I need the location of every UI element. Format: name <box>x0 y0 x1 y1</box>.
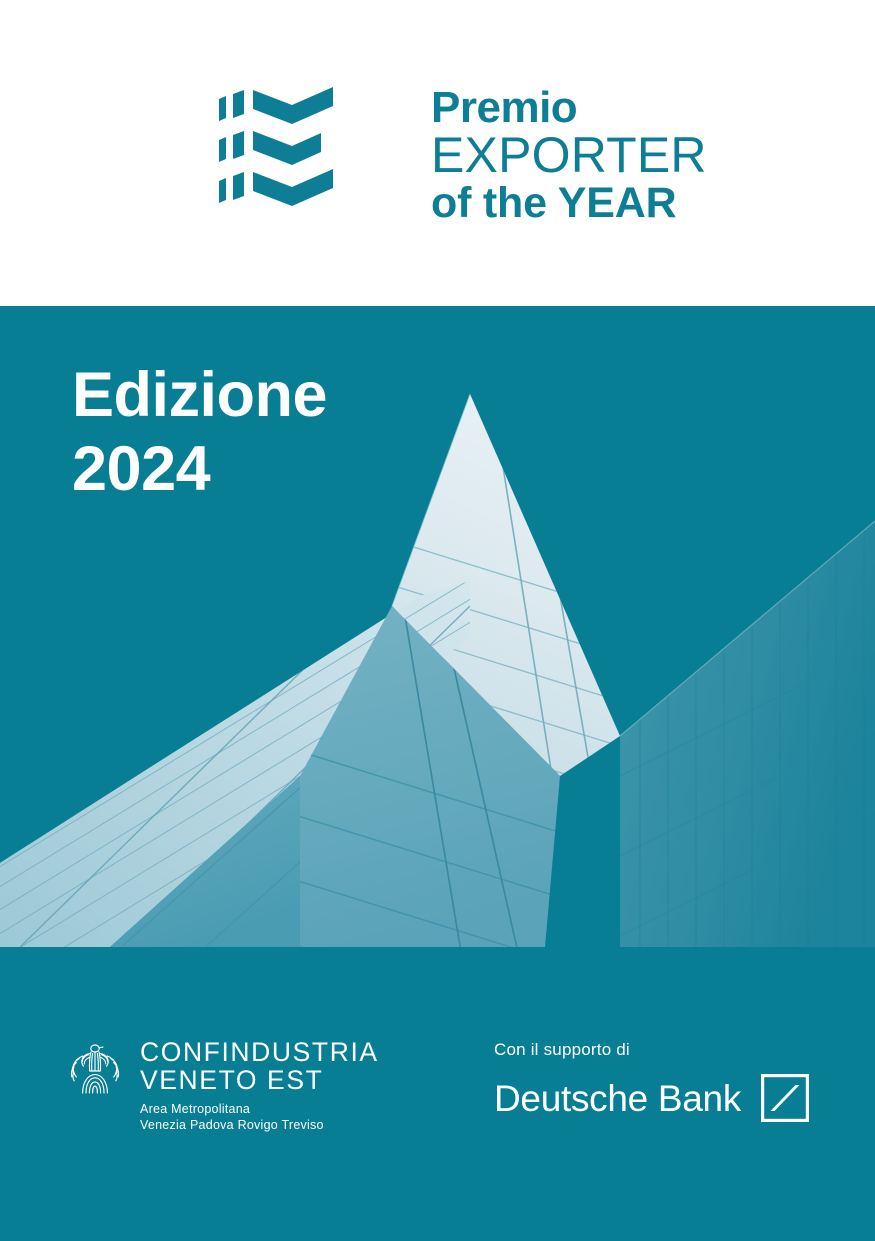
sponsor-block: Con il supporto di Deutsche Bank <box>494 1040 809 1122</box>
deutsche-bank-slash-logo <box>761 1074 809 1122</box>
confindustria-logo: CONFINDUSTRIA VENETO EST Area Metropolit… <box>64 1038 379 1133</box>
edition-title: Edizione 2024 <box>72 358 327 507</box>
wordmark-exporter: EXPORTER <box>431 129 707 181</box>
premio-exporter-chevron-mark <box>216 84 411 216</box>
sponsor-logo: Deutsche Bank <box>494 1074 809 1122</box>
header-band: Premio EXPORTER of the YEAR <box>0 0 875 306</box>
award-logo: Premio EXPORTER of the YEAR <box>216 84 707 227</box>
confindustria-subtitle: Area Metropolitana Venezia Padova Rovigo… <box>140 1101 379 1133</box>
sponsor-support-label: Con il supporto di <box>494 1040 809 1060</box>
wordmark-of-the-year: of the YEAR <box>431 181 707 227</box>
confindustria-name: CONFINDUSTRIA VENETO EST <box>140 1038 379 1094</box>
wordmark-premio: Premio <box>431 86 707 129</box>
footer: CONFINDUSTRIA VENETO EST Area Metropolit… <box>0 1010 875 1170</box>
cover-page: Premio EXPORTER of the YEAR <box>0 0 875 1241</box>
confindustria-text: CONFINDUSTRIA VENETO EST Area Metropolit… <box>140 1038 379 1133</box>
confindustria-eagle-emblem <box>64 1041 126 1099</box>
sponsor-name: Deutsche Bank <box>494 1080 741 1117</box>
award-wordmark: Premio EXPORTER of the YEAR <box>431 84 707 227</box>
